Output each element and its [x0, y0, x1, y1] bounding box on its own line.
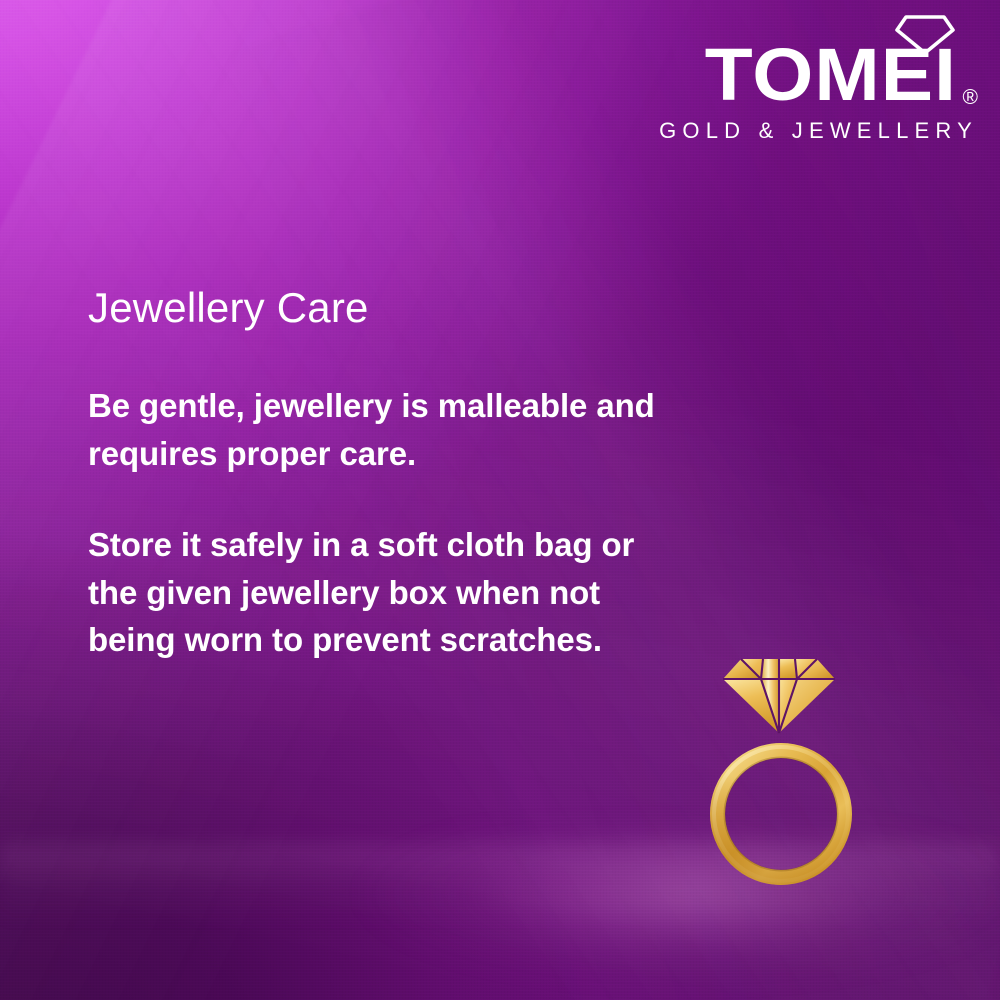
care-paragraph-1: Be gentle, jewellery is malleable and re… [88, 382, 668, 477]
copy-block: Jewellery Care Be gentle, jewellery is m… [88, 286, 668, 664]
logo-wordmark: TOMEI ® [719, 38, 978, 112]
gold-diamond-icon [723, 655, 835, 735]
registered-trademark-icon: ® [963, 87, 978, 108]
page-title: Jewellery Care [88, 286, 668, 330]
brand-logo: TOMEI ® GOLD & JEWELLERY [648, 10, 978, 140]
gold-ring-band-icon [708, 741, 854, 887]
care-paragraph-2: Store it safely in a soft cloth bag or t… [88, 521, 668, 664]
diamond-ring-illustration [706, 655, 856, 900]
logo-brand-name: TOMEI [704, 38, 956, 112]
poster-canvas: TOMEI ® GOLD & JEWELLERY Jewellery Care … [0, 0, 1000, 1000]
logo-tagline: GOLD & JEWELLERY [659, 118, 978, 144]
